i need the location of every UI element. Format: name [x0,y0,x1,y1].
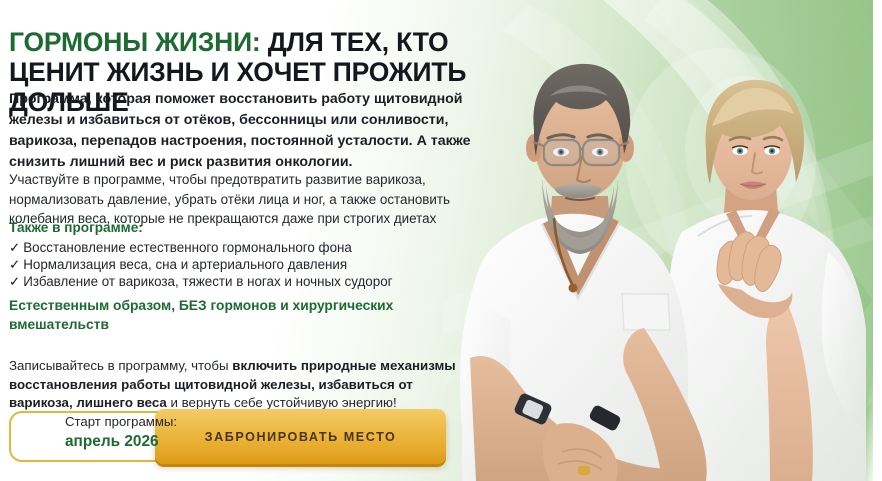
doctors-photo [430,0,873,481]
list-item: ✓Нормализация веса, сна и артериального … [9,256,449,273]
promo-banner: ГОРМОНЫ ЖИЗНИ: ДЛЯ ТЕХ, КТО ЦЕНИТ ЖИЗНЬ … [0,0,882,481]
check-icon: ✓ [9,257,20,272]
also-in-program-title: Также в программе: [9,219,143,237]
list-item: ✓Избавление от варикоза, тяжести в ногах… [9,273,449,290]
list-item-label: Восстановление естественного гормонально… [23,240,352,255]
list-item-label: Нормализация веса, сна и артериального д… [23,257,347,272]
headline-green: ГОРМОНЫ ЖИЗНИ: [9,27,261,57]
green-statement: Естественным образом, БЕЗ гормонов и хир… [9,296,439,334]
text-column: ГОРМОНЫ ЖИЗНИ: ДЛЯ ТЕХ, КТО ЦЕНИТ ЖИЗНЬ … [9,0,479,481]
list-item-label: Избавление от варикоза, тяжести в ногах … [23,274,392,289]
check-icon: ✓ [9,274,20,289]
check-icon: ✓ [9,240,20,255]
start-date-value: апрель 2026 [65,433,159,451]
start-date-label: Старт программы: [65,414,177,429]
right-white-margin [873,0,882,481]
benefits-list: ✓Восстановление естественного гормональн… [9,239,449,291]
lead-paragraph: Программа, которая поможет восстановить … [9,89,471,172]
closing-part1: Записывайтесь в программу, чтобы [9,358,232,373]
list-item: ✓Восстановление естественного гормональн… [9,239,449,256]
book-place-button[interactable]: ЗАБРОНИРОВАТЬ МЕСТО [155,409,446,464]
